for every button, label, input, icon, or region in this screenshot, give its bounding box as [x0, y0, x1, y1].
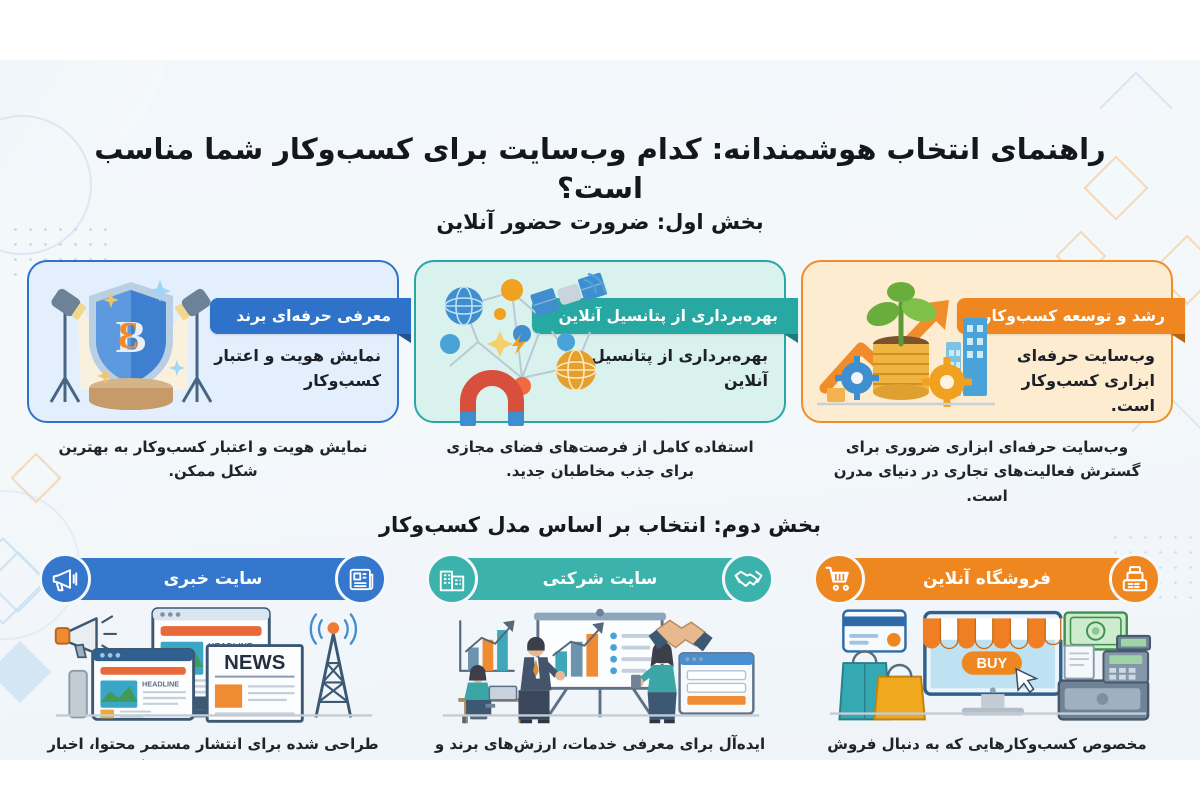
shopping-cart-icon	[813, 553, 865, 605]
megaphone-icon	[39, 553, 91, 605]
svg-text:Ɛ: Ɛ	[118, 315, 138, 357]
card-growth-body: وب‌سایت حرفه‌ای ابزاری کسب‌وکار است.	[975, 344, 1155, 418]
news-site-label: سایت خبری	[164, 569, 263, 589]
card-online-potential[interactable]: بهره‌برداری از پتانسیل آنلاین بهره‌بردار…	[414, 260, 786, 423]
office-building-icon	[426, 553, 478, 605]
corporate-site-label: سایت شرکتی	[543, 569, 658, 589]
card-news-site[interactable]: سایت خبری	[27, 558, 399, 724]
global-network-magnet-satellite-icon	[426, 270, 611, 416]
news-site-pill[interactable]: سایت خبری	[57, 558, 369, 600]
cash-register-icon	[1109, 553, 1161, 605]
infographic-canvas: راهنمای انتخاب هوشمندانه: کدام وب‌سایت ب…	[0, 60, 1200, 760]
section-two-caption-row: مخصوص کسب‌وکارهایی که به دنبال فروش مستق…	[0, 732, 1200, 760]
card-online-shop[interactable]: فروشگاه آنلاین	[801, 558, 1173, 724]
card-corporate-site[interactable]: سایت شرکتی	[414, 558, 786, 724]
infographic-page: راهنمای انتخاب هوشمندانه: کدام وب‌سایت ب…	[0, 0, 1200, 800]
news-label: NEWS	[224, 652, 285, 674]
growth-chart-plant-coins-icon	[813, 270, 998, 416]
brand-shield-spotlight-podium-icon: B Ɛ	[39, 270, 224, 416]
card-brand-identity-badge: معرفی حرفه‌ای برند	[210, 298, 411, 334]
section-one-card-row: رشد و توسعه کسب‌وکار وب‌سایت حرفه‌ای ابز…	[0, 260, 1200, 423]
caption-growth: وب‌سایت حرفه‌ای ابزاری ضروری برای گسترش …	[801, 435, 1173, 508]
caption-online-potential: استفاده کامل از فرصت‌های فضای مجازی برای…	[414, 435, 786, 508]
window-headline-label: HEADLINE	[142, 679, 179, 688]
section-two-heading: بخش دوم: انتخاب بر اساس مدل کسب‌وکار	[0, 513, 1200, 537]
newspaper-icon	[335, 553, 387, 605]
section-one-heading: بخش اول: ضرورت حضور آنلاین	[0, 210, 1200, 234]
section-one-caption-row: وب‌سایت حرفه‌ای ابزاری ضروری برای گسترش …	[0, 435, 1200, 508]
online-shop-pill[interactable]: فروشگاه آنلاین	[831, 558, 1143, 600]
caption-brand-identity: نمایش هویت و اعتبار کسب‌وکار به بهترین ش…	[27, 435, 399, 508]
caption-corporate-site: ایده‌آل برای معرفی خدمات، ارزش‌های برند …	[414, 732, 786, 760]
corporate-site-pill[interactable]: سایت شرکتی	[444, 558, 756, 600]
card-brand-identity[interactable]: معرفی حرفه‌ای برند نمایش هویت و اعتبار ک…	[27, 260, 399, 423]
online-shop-label: فروشگاه آنلاین	[923, 569, 1051, 589]
caption-news-site: طراحی شده برای انتشار مستمر محتوا، اخبار…	[27, 732, 399, 760]
caption-online-shop: مخصوص کسب‌وکارهایی که به دنبال فروش مستق…	[801, 732, 1173, 760]
section-two-card-row: فروشگاه آنلاین	[0, 558, 1200, 724]
card-brand-identity-body: نمایش هویت و اعتبار کسب‌وکار	[201, 344, 381, 394]
buy-button-label: BUY	[976, 656, 1007, 672]
news-broadcast-devices-icon: HEADLINE	[27, 606, 399, 724]
card-growth[interactable]: رشد و توسعه کسب‌وکار وب‌سایت حرفه‌ای ابز…	[801, 260, 1173, 423]
page-title: راهنمای انتخاب هوشمندانه: کدام وب‌سایت ب…	[0, 130, 1200, 208]
ecommerce-storefront-icon: BUY	[801, 606, 1173, 724]
card-online-potential-body: بهره‌برداری از پتانسیل آنلاین	[588, 344, 768, 394]
handshake-icon	[722, 553, 774, 605]
corporate-presentation-team-icon	[414, 606, 786, 724]
